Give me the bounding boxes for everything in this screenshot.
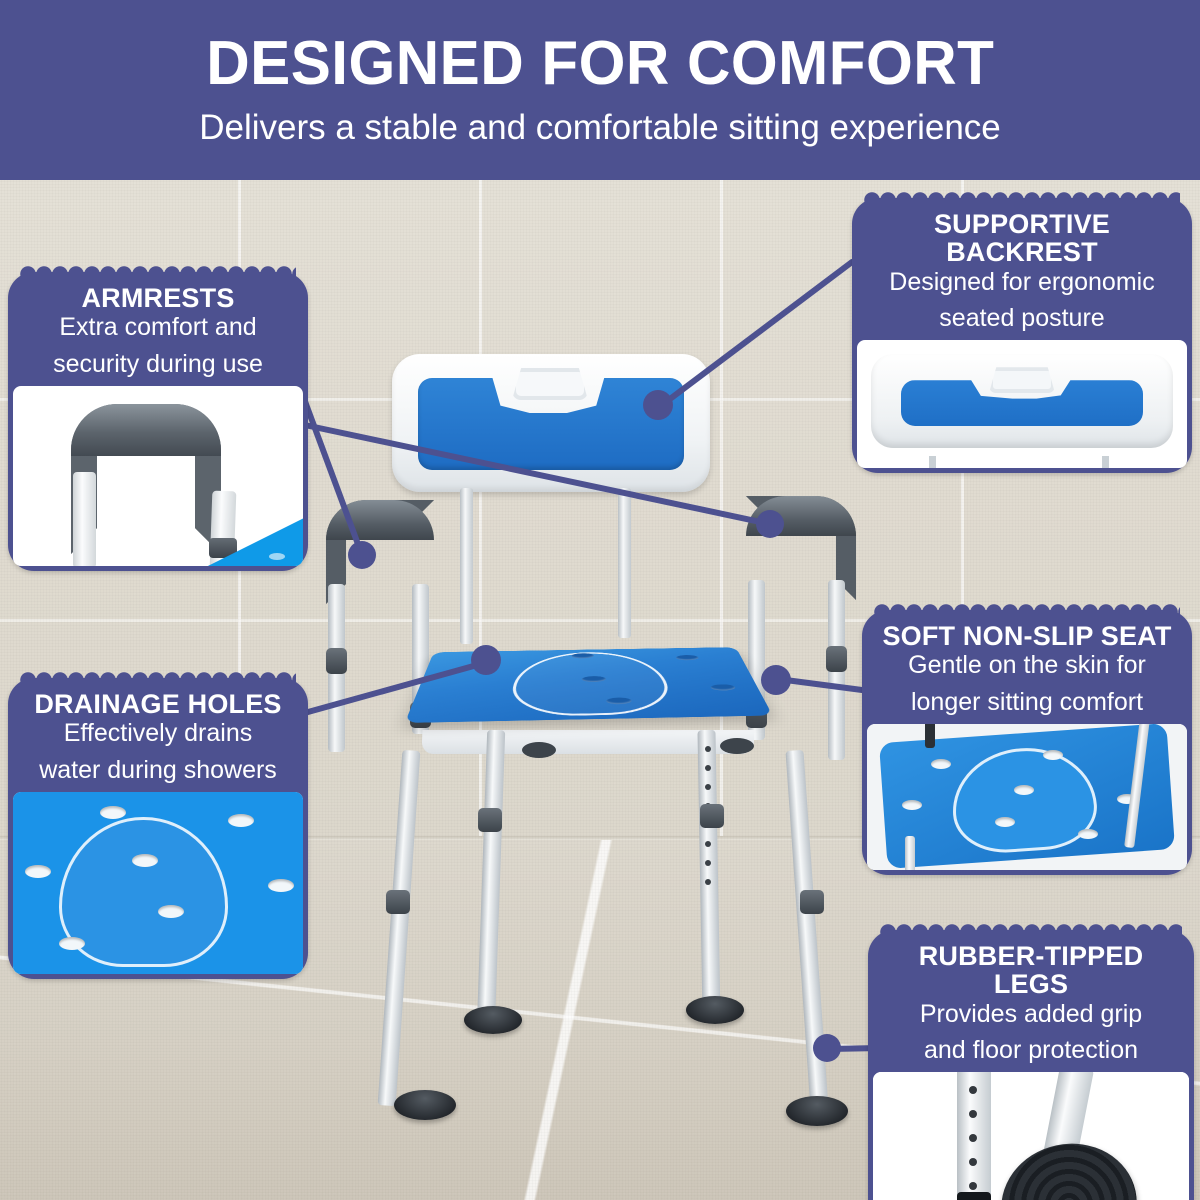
backrest-post-right	[618, 488, 631, 638]
scallop-edge	[864, 191, 1180, 205]
page-title: DESIGNED FOR COMFORT	[206, 33, 994, 95]
callout-text-seat-line1: Gentle on the skin for	[867, 650, 1187, 687]
leg-back-left	[477, 730, 505, 1030]
callout-text-legs-line1: Provides added grip	[873, 999, 1189, 1036]
rubber-tip-back-right	[686, 996, 744, 1024]
callout-text-legs-line2: and floor protection	[873, 1036, 1189, 1072]
armrest-frame-left	[73, 472, 96, 566]
leg-frame	[905, 836, 915, 870]
drainage-hole	[228, 814, 254, 827]
backrest-post-right	[1102, 456, 1109, 468]
drainage-hole	[132, 854, 158, 867]
seat-blue-cushion	[405, 647, 773, 723]
callout-title-legs: RUBBER-TIPPED LEGS	[873, 935, 1189, 999]
callout-text-armrests-line1: Extra comfort and	[13, 312, 303, 349]
drainage-hole	[269, 553, 285, 560]
rubber-tip-back-left	[464, 1006, 522, 1034]
scallop-edge	[874, 603, 1180, 617]
leg-collar-2	[800, 890, 824, 914]
drainage-hole	[268, 879, 294, 892]
callout-text-seat-line2: longer sitting comfort	[867, 688, 1187, 724]
leg-rubber-collar	[957, 1192, 991, 1200]
callout-text-backrest-line1: Designed for ergonomic	[857, 267, 1187, 304]
drainage-hole	[158, 905, 184, 918]
callout-text-backrest-line2: seated posture	[857, 304, 1187, 340]
leg-front-right	[785, 750, 828, 1110]
seat-bracket-right	[720, 738, 754, 754]
product-shower-chair	[300, 330, 920, 1160]
seat-u-shaped-cutout	[509, 651, 676, 717]
callout-card-drainage[interactable]: DRAINAGE HOLES Effectively drains water …	[8, 678, 308, 979]
backrest-handle-cutout	[512, 368, 588, 400]
drainage-hole	[1078, 829, 1098, 839]
callout-text-drainage-line2: water during showers	[13, 756, 303, 792]
infographic-stage: DESIGNED FOR COMFORT Delivers a stable a…	[0, 0, 1200, 1200]
callout-title-backrest: SUPPORTIVE BACKREST	[857, 203, 1187, 267]
callout-title-armrests: ARMRESTS	[13, 277, 303, 312]
armrest-collar-3	[826, 646, 847, 672]
backrest-post-left	[460, 488, 473, 644]
rubber-tip-front-right	[786, 1096, 848, 1126]
callout-image-armrests	[13, 386, 303, 566]
drainage-hole	[100, 806, 126, 819]
leg-collar-4	[700, 804, 724, 828]
drainage-hole	[902, 800, 922, 810]
leg-collar-1	[386, 890, 410, 914]
scallop-edge	[880, 923, 1182, 937]
callout-image-seat	[867, 724, 1187, 870]
seat-bracket-left	[522, 742, 556, 758]
header-banner: DESIGNED FOR COMFORT Delivers a stable a…	[0, 0, 1200, 180]
leg-front-left	[378, 750, 421, 1106]
callout-card-legs[interactable]: RUBBER-TIPPED LEGS Provides added grip a…	[868, 930, 1194, 1200]
rubber-tip-front-left	[394, 1090, 456, 1120]
callout-text-armrests-line2: security during use	[13, 350, 303, 386]
backrest-shell-illustration	[871, 354, 1173, 448]
seat-cutout-illustration	[949, 743, 1100, 856]
callout-card-backrest[interactable]: SUPPORTIVE BACKREST Designed for ergonom…	[852, 198, 1192, 473]
page-subtitle: Delivers a stable and comfortable sittin…	[199, 109, 1001, 148]
drainage-hole	[675, 655, 699, 660]
callout-text-drainage-line1: Effectively drains	[13, 718, 303, 755]
callout-image-drainage	[13, 792, 303, 974]
leg-collar-3	[478, 808, 502, 832]
height-adjustment-holes	[969, 1086, 977, 1200]
drainage-hole	[469, 663, 493, 669]
drainage-hole	[710, 684, 737, 691]
scallop-edge	[20, 671, 296, 685]
callout-title-seat: SOFT NON-SLIP SEAT	[867, 615, 1187, 650]
backrest-handle-illustration	[989, 367, 1055, 393]
drainage-hole	[931, 759, 951, 769]
callout-title-drainage: DRAINAGE HOLES	[13, 683, 303, 718]
callout-image-backrest	[857, 340, 1187, 468]
armrest-collar-1	[326, 648, 347, 674]
drainage-hole	[25, 865, 51, 878]
backrest-post-left	[929, 456, 936, 468]
scallop-edge	[20, 265, 296, 279]
callout-image-legs	[873, 1072, 1189, 1200]
callout-card-armrests[interactable]: ARMRESTS Extra comfort and security duri…	[8, 272, 308, 571]
callout-card-seat[interactable]: SOFT NON-SLIP SEAT Gentle on the skin fo…	[862, 610, 1192, 875]
armrest-tip	[925, 724, 935, 748]
